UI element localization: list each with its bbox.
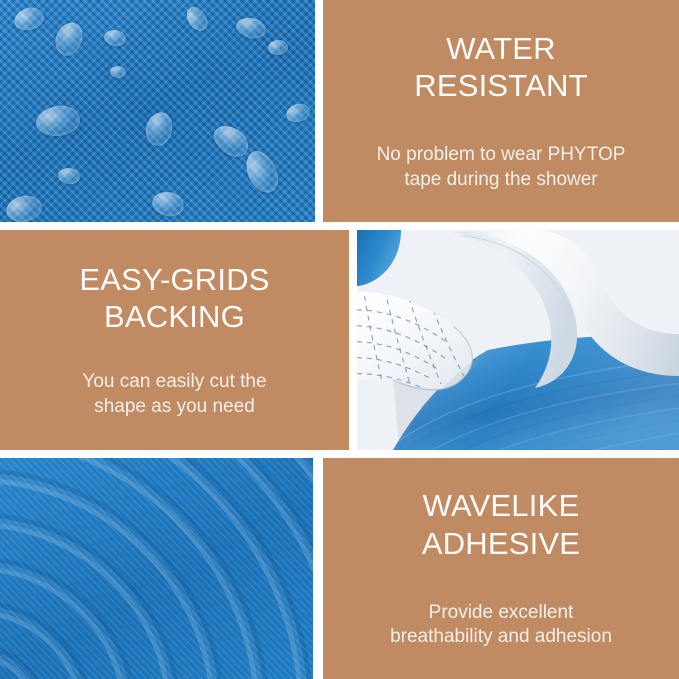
panel-easy-grids-photo xyxy=(357,230,679,450)
headline-easy-grids: EASY-GRIDS BACKING xyxy=(79,261,269,337)
panel-wavelike-text: WAVELIKE ADHESIVE Provide excellent brea… xyxy=(323,458,679,679)
subtext-easy-grids: You can easily cut the shape as you need xyxy=(82,370,266,419)
panel-easy-grids-text: EASY-GRIDS BACKING You can easily cut th… xyxy=(0,230,349,450)
panel-water-resistant-photo xyxy=(0,0,315,222)
subtext-water-resistant: No problem to wear PHYTOP tape during th… xyxy=(377,143,626,192)
panel-wavelike-photo xyxy=(0,458,313,679)
tape-peel-photo xyxy=(357,230,679,450)
headline-wavelike: WAVELIKE ADHESIVE xyxy=(422,487,580,563)
water-droplet xyxy=(110,66,126,78)
panel-water-resistant-text: WATER RESISTANT No problem to wear PHYTO… xyxy=(323,0,679,222)
subtext-wavelike: Provide excellent breathability and adhe… xyxy=(390,601,612,650)
headline-water-resistant: WATER RESISTANT xyxy=(414,30,587,106)
product-feature-infographic: WATER RESISTANT No problem to wear PHYTO… xyxy=(0,0,679,679)
wavelike-adhesive-texture xyxy=(0,458,313,679)
